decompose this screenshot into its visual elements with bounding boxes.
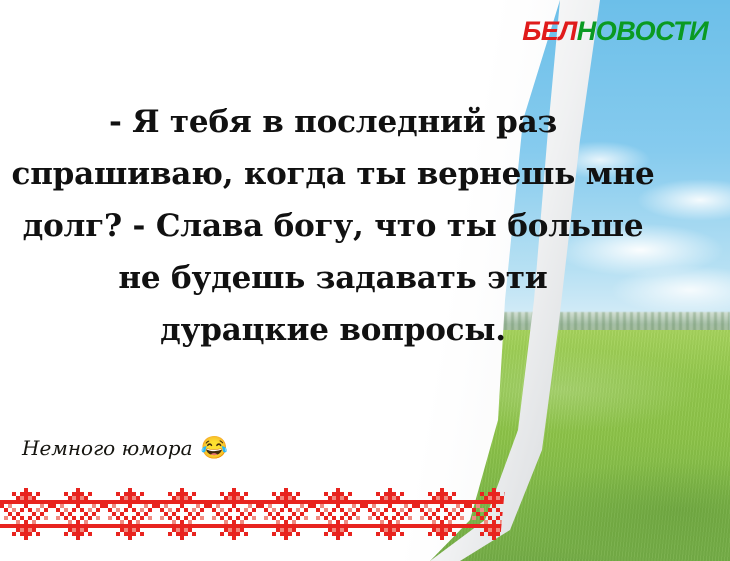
ornament-motif (156, 487, 208, 541)
signature-label: Немного юмора (22, 436, 193, 460)
logo-text-bel: БЕЛ (522, 16, 577, 46)
joke-line-4: не будешь задавать эти (8, 252, 658, 304)
ornament-motif (104, 487, 156, 541)
ornament-motif (260, 487, 312, 541)
ornament-motif (416, 487, 468, 541)
ornament-motif (208, 487, 260, 541)
meme-card: БЕЛНОВОСТИ - Я тебя в последний раз спра… (0, 0, 730, 561)
ornament-motif (364, 487, 416, 541)
signature: Немного юмора 😂 (22, 436, 228, 460)
ornament-motif (312, 487, 364, 541)
ornament-border (0, 487, 520, 541)
logo-text-novosti: НОВОСТИ (577, 16, 708, 46)
ornament-motif (0, 487, 52, 541)
ornament-motif (52, 487, 104, 541)
joke-line-5: дурацкие вопросы. (8, 304, 658, 356)
joke-line-3: долг? - Слава богу, что ты больше (8, 200, 658, 252)
site-logo[interactable]: БЕЛНОВОСТИ (522, 18, 708, 45)
joke-line-1: - Я тебя в последний раз (8, 96, 658, 148)
ornament-row (0, 487, 520, 541)
face-with-tears-of-joy-icon: 😂 (201, 437, 228, 459)
joke-text: - Я тебя в последний раз спрашиваю, когд… (8, 96, 658, 356)
joke-line-2: спрашиваю, когда ты вернешь мне (8, 148, 658, 200)
